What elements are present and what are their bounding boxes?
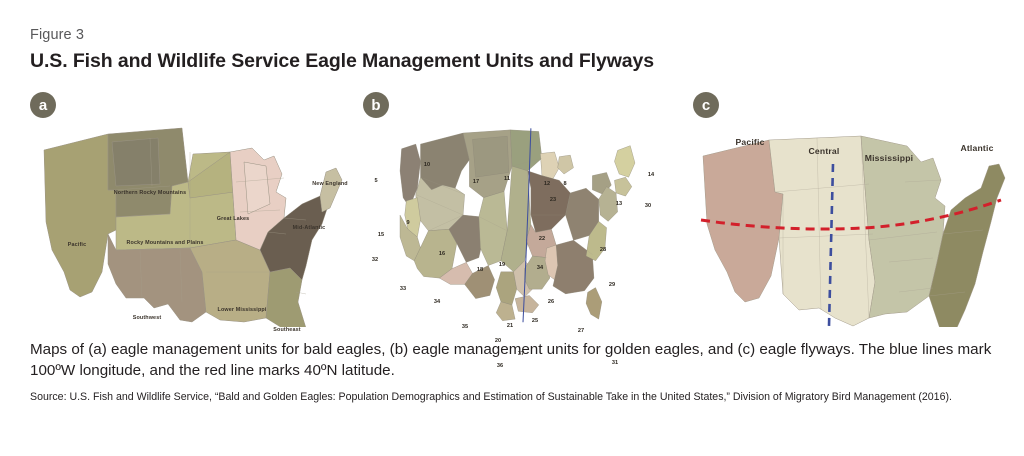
panel-badge-a: a — [30, 92, 56, 118]
flyway-central — [769, 136, 875, 326]
region-nrm-shade — [112, 138, 160, 186]
bcr-30 — [614, 177, 631, 196]
map-golden-eagle-units[interactable]: 5 10 9 15 32 33 16 34 17 18 35 11 19 20 … — [363, 122, 683, 327]
map-eagle-flyways[interactable]: Pacific Central Mississippi Atlantic — [693, 122, 1013, 327]
bcr-10 — [421, 133, 470, 190]
figure-number: Figure 3 — [30, 27, 84, 43]
bcr-31 — [586, 288, 602, 320]
panel-badge-b: b — [363, 92, 389, 118]
figure-container: Figure 3 U.S. Fish and Wildlife Service … — [0, 0, 1024, 456]
bcr-36 — [496, 302, 515, 321]
bcr-number-27: 27 — [578, 328, 584, 334]
map-bald-eagle-units[interactable]: Pacific Northern Rocky Mountains Rocky M… — [30, 122, 350, 327]
region-new-england — [320, 168, 342, 212]
panel-eagle-flyways: c Pacific Central Mississippi — [693, 92, 1013, 327]
bcr-37 — [515, 295, 539, 312]
bcr-12 — [540, 152, 559, 179]
figure-caption: Maps of (a) eagle management units for b… — [30, 340, 998, 381]
map-c-svg — [693, 122, 1013, 327]
bcr-14 — [614, 146, 635, 178]
panel-bald-eagle-units: a — [30, 92, 350, 327]
figure-source: Source: U.S. Fish and Wildlife Service, … — [30, 390, 998, 404]
panel-golden-eagle-units: b — [363, 92, 683, 327]
bcr-17b — [473, 136, 509, 177]
flyway-pacific — [703, 140, 783, 302]
panel-badge-c: c — [693, 92, 719, 118]
map-a-label-southeast: Southeast — [273, 327, 300, 333]
region-pacific — [44, 134, 116, 297]
figure-title: U.S. Fish and Wildlife Service Eagle Man… — [30, 50, 654, 73]
map-b-svg — [363, 122, 683, 327]
map-a-svg — [30, 122, 350, 327]
bcr-11 — [510, 130, 542, 171]
bcr-22 — [528, 171, 571, 233]
bcr-20 — [496, 272, 517, 305]
bcr-8 — [558, 155, 574, 174]
flyway-atlantic — [929, 164, 1005, 327]
